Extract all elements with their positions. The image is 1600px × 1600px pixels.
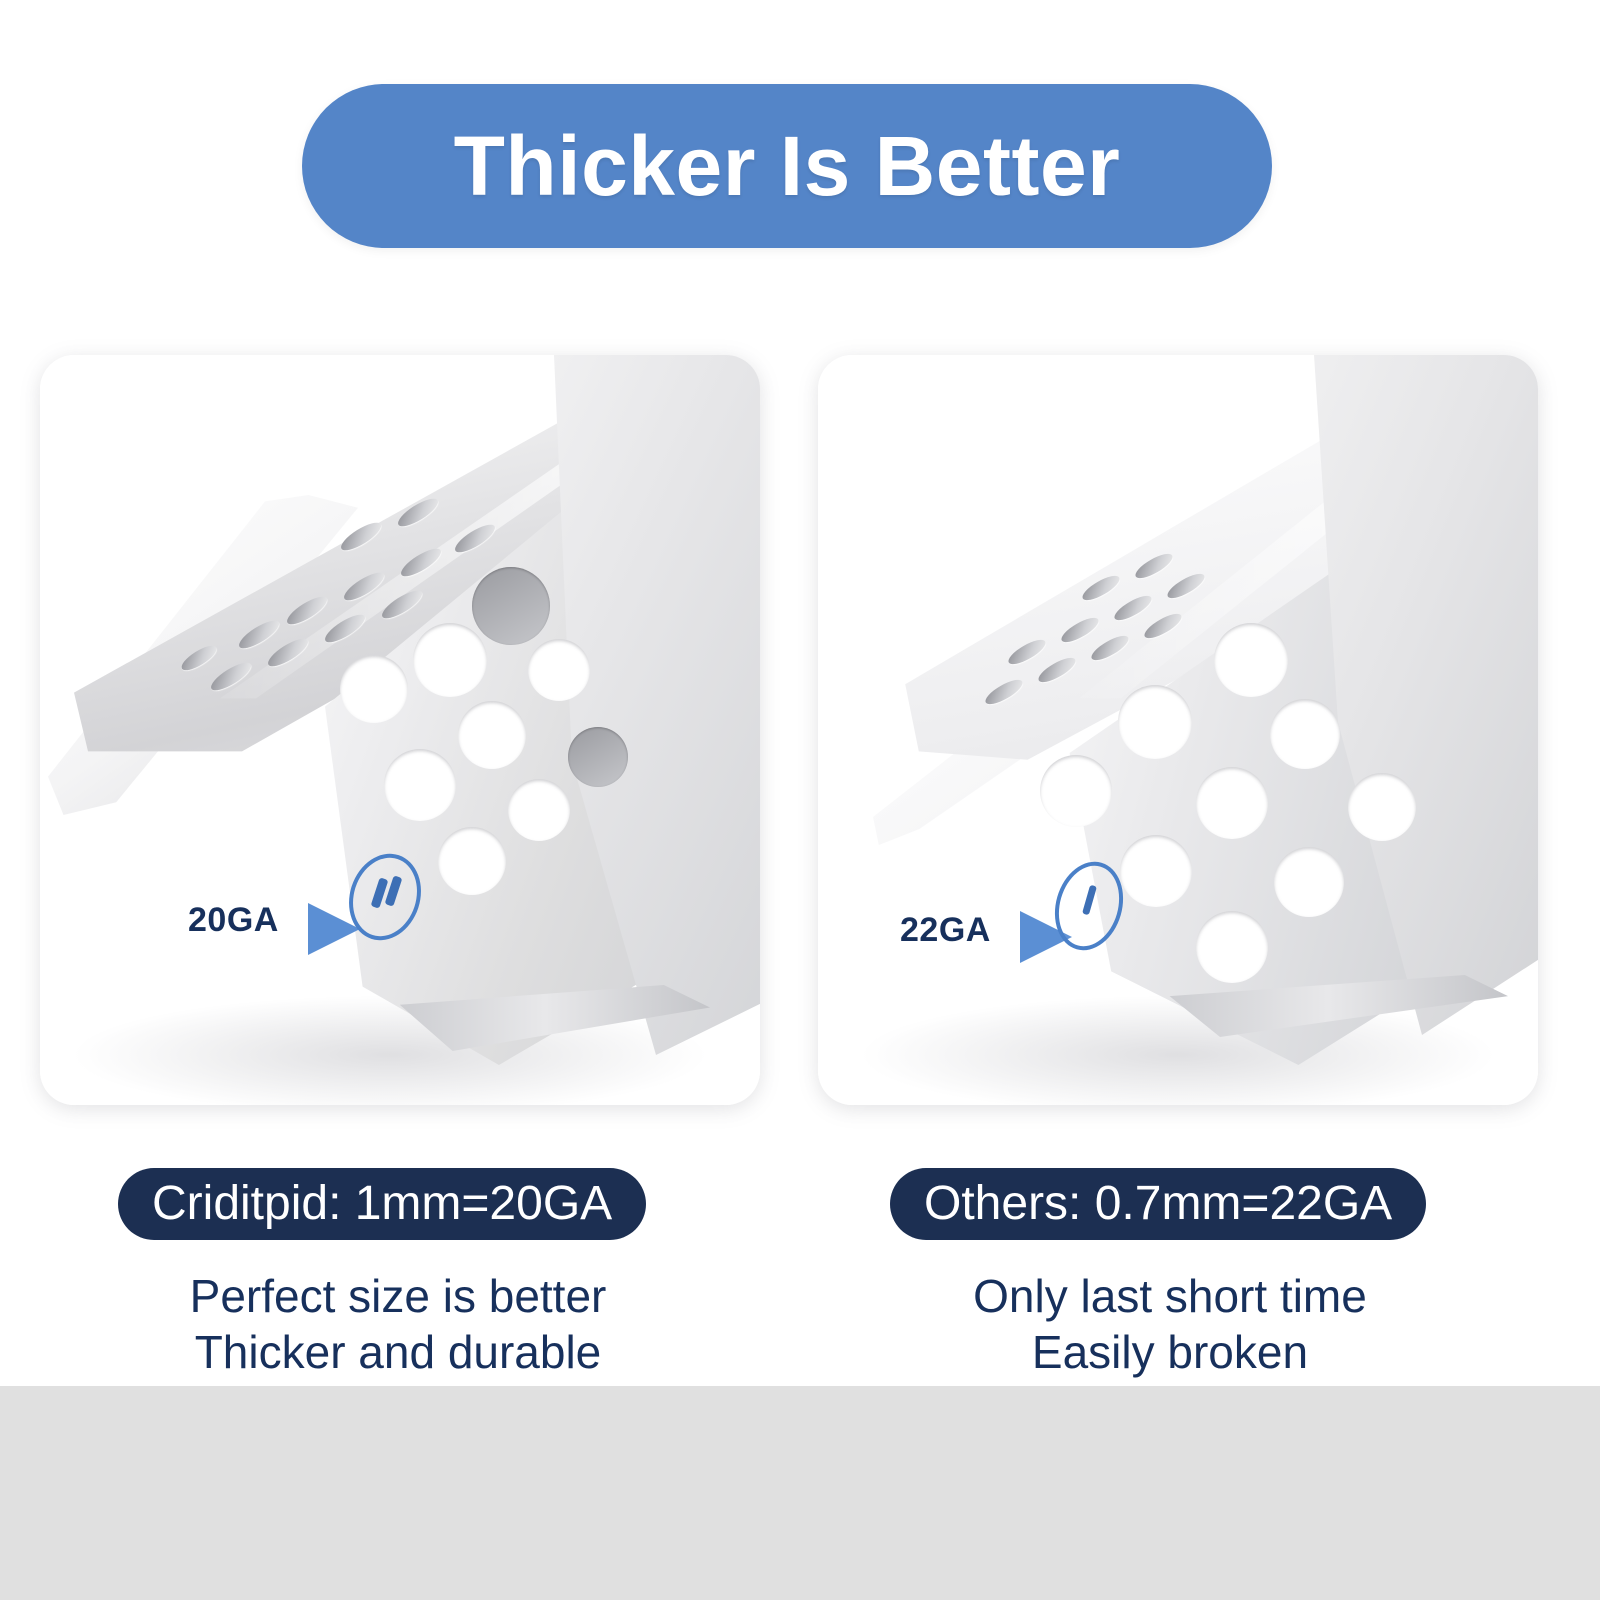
plate-hole: [1118, 685, 1192, 759]
header-banner: Thicker Is Better: [302, 84, 1272, 248]
badge-label: Others: 0.7mm=22GA: [924, 1180, 1392, 1228]
status-badge-right: Others: 0.7mm=22GA: [890, 1168, 1426, 1240]
status-badge-left: Criditpid: 1mm=20GA: [118, 1168, 646, 1240]
plate-hole: [458, 701, 526, 769]
caption-line-2: Easily broken: [820, 1324, 1520, 1380]
plate-hole: [472, 567, 550, 645]
comparison-column-right: 22GA: [818, 355, 1538, 1105]
product-photo-card-right: 22GA: [818, 355, 1538, 1105]
plate-hole: [1274, 847, 1344, 917]
plate-hole: [508, 779, 570, 841]
page-title: Thicker Is Better: [454, 124, 1121, 208]
plate-hole: [1120, 835, 1192, 907]
caption-line-2: Thicker and durable: [48, 1324, 748, 1380]
plate-hole: [1214, 623, 1288, 697]
bottom-gray-band: [0, 1386, 1600, 1600]
plate-hole: [1196, 767, 1268, 839]
callout-label: 20GA: [188, 901, 279, 940]
caption-line-1: Perfect size is better: [48, 1268, 748, 1324]
product-photo-card-left: 20GA: [40, 355, 760, 1105]
product-image-right: 22GA: [818, 355, 1538, 1105]
plate-hole: [1348, 773, 1416, 841]
product-image-left: 20GA: [40, 355, 760, 1105]
plate-hole: [1196, 911, 1268, 983]
plate-hole: [528, 639, 590, 701]
plate-hole: [413, 623, 487, 697]
caption-left: Perfect size is better Thicker and durab…: [48, 1268, 748, 1380]
caption-line-1: Only last short time: [820, 1268, 1520, 1324]
badge-label: Criditpid: 1mm=20GA: [152, 1180, 612, 1228]
plate-hole: [1040, 755, 1112, 827]
plate-hole: [384, 749, 456, 821]
plate-hole: [1270, 699, 1340, 769]
plate-hole: [438, 827, 506, 895]
callout-label: 22GA: [900, 911, 991, 950]
plate-shadow: [858, 995, 1498, 1105]
comparison-column-left: 20GA: [40, 355, 760, 1105]
plate-hole: [568, 727, 628, 787]
caption-right: Only last short time Easily broken: [820, 1268, 1520, 1380]
plate-hole: [340, 655, 408, 723]
